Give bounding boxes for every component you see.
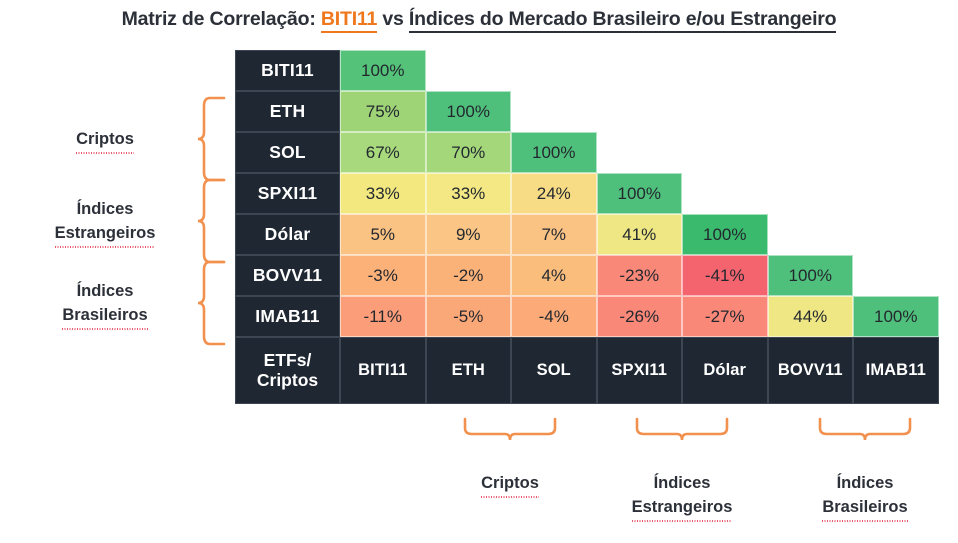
col-group-brace-criptos [463, 417, 557, 449]
row-group-brace-estrangeiros [196, 178, 226, 264]
matrix-cell: 9% [426, 214, 512, 255]
matrix-row: BITI11100% [235, 50, 938, 91]
matrix-cell: 100% [511, 132, 597, 173]
matrix-column-header: IMAB11 [853, 337, 939, 404]
col-group-brace-estrangeiros [635, 417, 729, 449]
matrix-row: SOL67%70%100% [235, 132, 938, 173]
matrix-cell: 24% [511, 173, 597, 214]
col-group-brasileiros-line1: Índices [770, 472, 958, 496]
row-group-brasileiros-line1: Índices [20, 280, 190, 304]
matrix-cell-empty [768, 91, 854, 132]
matrix-cell-empty [768, 173, 854, 214]
corner-label-line2: Criptos [257, 371, 318, 391]
title-middle: vs [377, 8, 409, 30]
matrix-cell: -11% [340, 296, 426, 337]
matrix-cell: -3% [340, 255, 426, 296]
matrix-cell-empty [768, 214, 854, 255]
matrix-row: SPXI1133%33%24%100% [235, 173, 938, 214]
matrix-cell-empty [682, 50, 768, 91]
col-group-label-brasileiros: Índices Brasileiros [770, 472, 958, 522]
matrix-cell: 67% [340, 132, 426, 173]
col-group-estrangeiros-line2: Estrangeiros [632, 496, 733, 522]
row-group-criptos-line1: Criptos [76, 128, 134, 154]
matrix-cell-empty [597, 50, 683, 91]
matrix-cell: 100% [682, 214, 768, 255]
matrix-cell: 100% [426, 91, 512, 132]
matrix-column-header: ETH [426, 337, 512, 404]
col-group-criptos-line1: Criptos [481, 472, 539, 498]
matrix-row-label: Dólar [235, 214, 340, 255]
matrix-cell: 4% [511, 255, 597, 296]
matrix-corner-cell: ETFs/ Criptos [235, 337, 340, 404]
matrix-cell: 100% [768, 255, 854, 296]
matrix-column-header: BOVV11 [768, 337, 854, 404]
matrix-row-label: SPXI11 [235, 173, 340, 214]
row-group-label-brasileiros: Índices Brasileiros [20, 280, 190, 330]
matrix-cell: 100% [853, 296, 939, 337]
matrix-cell-empty [682, 91, 768, 132]
matrix-cell-empty [768, 132, 854, 173]
matrix-column-header: SOL [511, 337, 597, 404]
matrix-cell: -4% [511, 296, 597, 337]
matrix-cell-empty [853, 132, 939, 173]
matrix-cell-empty [768, 50, 854, 91]
matrix-cell: 33% [426, 173, 512, 214]
col-group-brasileiros-line2: Brasileiros [822, 496, 907, 522]
title-ticker-biti11: BITI11 [321, 8, 377, 33]
matrix-body: BITI11100%ETH75%100%SOL67%70%100%SPXI113… [235, 50, 938, 337]
matrix-cell-empty [853, 173, 939, 214]
row-group-brace-brasileiros [196, 260, 226, 346]
matrix-cell-empty [853, 91, 939, 132]
matrix-row: IMAB11-11%-5%-4%-26%-27%44%100% [235, 296, 938, 337]
matrix-cell-empty [426, 50, 512, 91]
page-title: Matriz de Correlação: BITI11 vs Índices … [0, 8, 958, 31]
title-prefix: Matriz de Correlação: [122, 8, 321, 30]
matrix-row: BOVV11-3%-2%4%-23%-41%100% [235, 255, 938, 296]
matrix-row: Dólar5%9%7%41%100% [235, 214, 938, 255]
matrix-row-label: IMAB11 [235, 296, 340, 337]
matrix-row-label: ETH [235, 91, 340, 132]
matrix-cell: 41% [597, 214, 683, 255]
matrix-cell: 100% [597, 173, 683, 214]
matrix-cell-empty [682, 173, 768, 214]
matrix-cell-empty [597, 91, 683, 132]
col-group-brace-brasileiros [818, 417, 912, 449]
row-group-estrangeiros-line2: Estrangeiros [55, 222, 156, 248]
matrix-row-label: BOVV11 [235, 255, 340, 296]
matrix-cell: 7% [511, 214, 597, 255]
row-group-label-estrangeiros: Índices Estrangeiros [20, 198, 190, 248]
col-group-label-criptos: Criptos [415, 472, 605, 498]
matrix-cell: -5% [426, 296, 512, 337]
row-group-brace-criptos [196, 96, 226, 182]
matrix-column-header: SPXI11 [597, 337, 683, 404]
title-suffix: Índices do Mercado Brasileiro e/ou Estra… [409, 8, 837, 33]
matrix-column-header: BITI11 [340, 337, 426, 404]
matrix-cell-empty [853, 214, 939, 255]
matrix-cell-empty [511, 50, 597, 91]
matrix-row: ETH75%100% [235, 91, 938, 132]
matrix-cell: 5% [340, 214, 426, 255]
matrix-cell: -27% [682, 296, 768, 337]
col-group-label-estrangeiros: Índices Estrangeiros [587, 472, 777, 522]
corner-label-line1: ETFs/ [264, 351, 312, 371]
matrix-cell-empty [853, 255, 939, 296]
matrix-cell: -2% [426, 255, 512, 296]
matrix-cell: 70% [426, 132, 512, 173]
correlation-matrix: BITI11100%ETH75%100%SOL67%70%100%SPXI113… [235, 50, 938, 404]
matrix-column-header: Dólar [682, 337, 768, 404]
matrix-cell: 44% [768, 296, 854, 337]
matrix-cell: -23% [597, 255, 683, 296]
matrix-cell: 33% [340, 173, 426, 214]
matrix-cell: -26% [597, 296, 683, 337]
matrix-cell-empty [682, 132, 768, 173]
matrix-cell-empty [853, 50, 939, 91]
matrix-column-header-row: ETFs/ Criptos BITI11ETHSOLSPXI11DólarBOV… [235, 337, 938, 404]
row-group-estrangeiros-line1: Índices [20, 198, 190, 222]
row-group-brasileiros-line2: Brasileiros [62, 304, 147, 330]
matrix-cell: -41% [682, 255, 768, 296]
row-group-label-criptos: Criptos [20, 128, 190, 154]
matrix-row-label: BITI11 [235, 50, 340, 91]
matrix-cell-empty [511, 91, 597, 132]
matrix-cell-empty [597, 132, 683, 173]
matrix-row-label: SOL [235, 132, 340, 173]
matrix-cell: 75% [340, 91, 426, 132]
col-group-estrangeiros-line1: Índices [587, 472, 777, 496]
matrix-cell: 100% [340, 50, 426, 91]
